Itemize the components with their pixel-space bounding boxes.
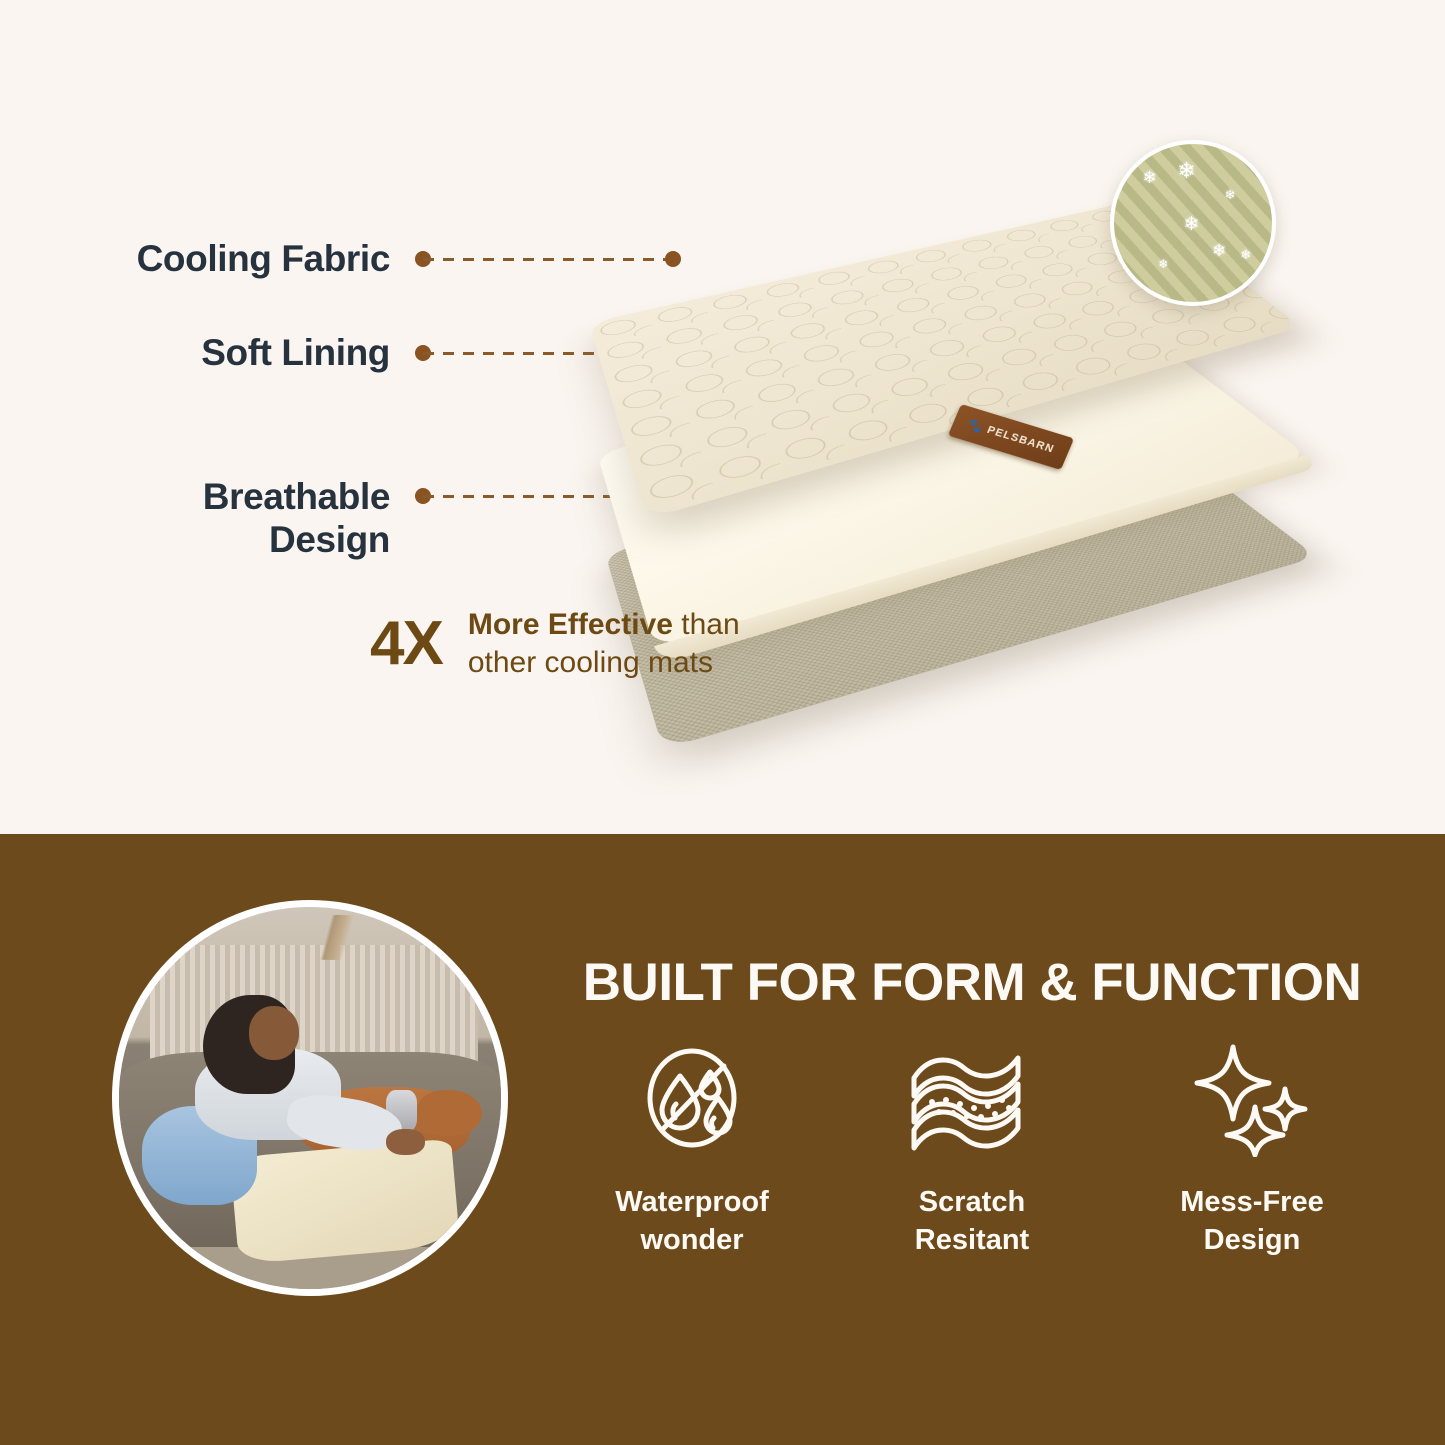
water-drops-no-slash-icon bbox=[636, 1032, 748, 1164]
features-banner: BUILT FOR FORM & FUNCTION Waterproof won bbox=[0, 834, 1445, 1445]
snowflake-icon: ❄ bbox=[1212, 242, 1226, 259]
feature-label-scratch-resistant: Scratch Resitant bbox=[915, 1184, 1029, 1259]
feature-row: Waterproof wonder bbox=[552, 1032, 1392, 1259]
snowflake-icon: ❄ bbox=[1225, 188, 1236, 201]
snowflake-icon: ❄ bbox=[1158, 258, 1168, 270]
snowflake-icon: ❄ bbox=[1240, 248, 1251, 261]
effectiveness-second-line: other cooling mats bbox=[468, 646, 713, 679]
photo-person-head bbox=[249, 1006, 299, 1059]
feature-label-mess-free: Mess-Free Design bbox=[1180, 1184, 1323, 1259]
effectiveness-rest-text: than bbox=[673, 608, 740, 641]
photo-cooling-mat bbox=[229, 1138, 459, 1264]
banner-heading: BUILT FOR FORM & FUNCTION bbox=[552, 952, 1392, 1013]
snowflake-icon: ❄ bbox=[1184, 215, 1200, 234]
snowflake-icon: ❄ bbox=[1177, 160, 1195, 182]
feature-waterproof: Waterproof wonder bbox=[567, 1032, 817, 1259]
sparkles-icon bbox=[1193, 1032, 1311, 1164]
feature-scratch-resistant: Scratch Resitant bbox=[847, 1032, 1097, 1259]
photo-dog-head bbox=[417, 1090, 482, 1136]
fabric-zoom-circle: ❄ ❄ ❄ ❄ ❄ ❄ ❄ bbox=[1110, 140, 1276, 306]
paw-icon: 🐾 bbox=[966, 418, 985, 433]
photo-wall-art bbox=[249, 915, 425, 961]
snowflake-icon: ❄ bbox=[1142, 169, 1156, 186]
wavy-fabric-layers-icon bbox=[906, 1032, 1038, 1164]
effectiveness-multiplier: 4X bbox=[370, 613, 442, 675]
feature-mess-free: Mess-Free Design bbox=[1127, 1032, 1377, 1259]
effectiveness-callout: 4X More Effective thanother cooling mats bbox=[370, 606, 740, 683]
callout-label-breathable-design: Breathable Design bbox=[60, 476, 390, 561]
effectiveness-text: More Effective thanother cooling mats bbox=[468, 606, 740, 683]
photo-person-hand bbox=[386, 1129, 424, 1156]
product-layers-panel: Cooling Fabric Soft Lining Breathable De… bbox=[0, 0, 1445, 834]
effectiveness-bold-text: More Effective bbox=[468, 608, 673, 641]
feature-label-waterproof: Waterproof wonder bbox=[615, 1184, 769, 1259]
callout-label-cooling-fabric: Cooling Fabric bbox=[60, 238, 390, 281]
callout-label-soft-lining: Soft Lining bbox=[60, 332, 390, 375]
lifestyle-photo bbox=[112, 900, 508, 1296]
infographic-page: Cooling Fabric Soft Lining Breathable De… bbox=[0, 0, 1445, 1445]
